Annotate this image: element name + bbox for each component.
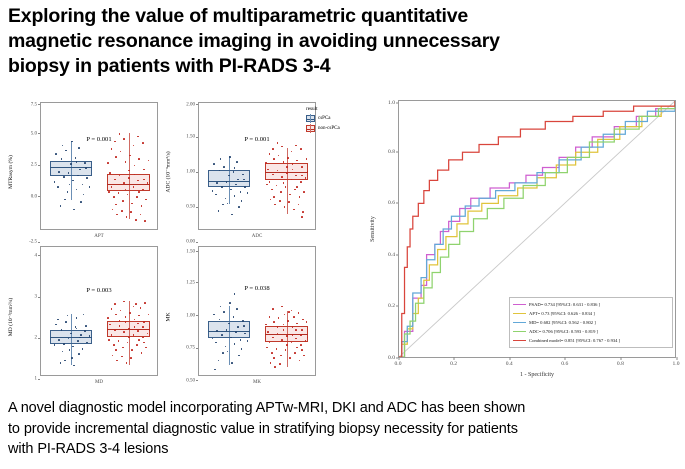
roc-legend-item-md: MD= 0.682 [95%CI: 0.562 - 0.802 ] [513,318,669,327]
roc-legend: PSAD= 0.734 [95%CI: 0.631 - 0.836 ] APT=… [509,297,673,348]
roc-legend-text-psad: PSAD= 0.734 [95%CI: 0.631 - 0.836 ] [529,300,600,309]
legend-label-noncspca: non-csPCa [318,126,340,131]
axis-label-y-mk: MK [162,246,176,388]
roc-legend-text-combined: Combined model= 0.851 [95%CI: 0.767 - 0.… [529,336,620,345]
axis-ticks-y-mk: 0.50 0.75 1.00 1.25 1.50 [176,246,198,388]
legend-key-cspca [306,115,315,122]
axis-label-x-mk: MK [198,377,316,388]
plot-area-adc: P = 0.001 [198,102,316,230]
boxplot-panel-adc: ADC (10⁻³mm²/s) 0.00 0.50 1.00 1.50 2.00… [164,102,316,242]
roc-legend-line-psad [513,304,526,306]
roc-legend-text-md: MD= 0.682 [95%CI: 0.562 - 0.802 ] [529,318,596,327]
pvalue-aptw: P = 0.001 [41,136,157,143]
title-line-1: Exploring the value of multiparametric q… [8,4,676,29]
axis-ticks-x-roc: 0.0 0.2 0.4 0.6 0.8 1.0 [398,358,676,372]
boxplot-panel-aptw: MTRasym (%) -2.5 0.0 2.5 5.0 7.5 P = 0.0… [6,102,158,242]
median-cspca [50,337,92,338]
legend-key-noncspca [306,125,315,132]
title-line-3: biopsy in patients with PI-RADS 3-4 [8,54,676,79]
axis-ticks-y-roc: 0.0 0.2 0.4 0.6 0.8 1.0 [378,100,398,358]
roc-legend-line-adc [513,331,526,333]
boxplot-panel-mk: MK 0.50 0.75 1.00 1.25 1.50 P = 0.038 [164,246,316,388]
roc-legend-text-apt: APT= 0.73 [95%CI: 0.626 - 0.834 ] [529,309,595,318]
roc-legend-item-adc: ADC= 0.706 [95%CI: 0.593 - 0.819 ] [513,327,669,336]
boxplot-legend: result csPCa non-csPCa [306,106,366,135]
caption-line-3: with PI-RADS 3-4 lesions [8,439,676,460]
boxplot-panel-md: MD (10⁻³mm²/s) 1 2 3 4 P = 0.003 [6,246,158,388]
axis-ticks-y-adc: 0.00 0.50 1.00 1.50 2.00 [176,102,198,242]
roc-legend-item-apt: APT= 0.73 [95%CI: 0.626 - 0.834 ] [513,309,669,318]
axis-label-y-mtrasym: MTRasym (%) [4,102,18,242]
axis-ticks-y-md: 1 2 3 4 [18,246,40,388]
caption-line-1: A novel diagnostic model incorporating A… [8,398,676,419]
legend-item-cspca: csPCa [306,115,366,122]
plot-area-mk: P = 0.038 [198,246,316,376]
axis-label-y-adc: ADC (10⁻³mm²/s) [162,102,176,242]
legend-title: result [306,106,366,112]
figure-panel-group: MTRasym (%) -2.5 0.0 2.5 5.0 7.5 P = 0.0… [0,96,685,396]
pvalue-adc: P = 0.001 [199,136,315,143]
legend-label-cspca: csPCa [318,116,331,121]
box-noncspca [107,174,150,192]
figure-page: Exploring the value of multiparametric q… [0,0,685,469]
caption-line-2: to provide incremental diagnostic value … [8,419,676,440]
roc-legend-line-md [513,322,526,324]
axis-label-x-specificity: 1 - Specificity [398,372,676,378]
roc-legend-line-combined [513,340,526,342]
roc-chart: Sensitivity 0.0 0.2 0.4 0.6 0.8 1.0 PSAD… [368,100,680,392]
axis-label-x-apt: APT [40,231,158,242]
roc-plot-area: PSAD= 0.734 [95%CI: 0.631 - 0.836 ] APT=… [398,100,676,358]
pvalue-md: P = 0.003 [41,287,157,294]
axis-label-y-md: MD (10⁻³mm²/s) [4,246,18,388]
page-title: Exploring the value of multiparametric q… [8,4,676,79]
axis-ticks-y-mtrasym: -2.5 0.0 2.5 5.0 7.5 [18,102,40,242]
axis-label-x-md: MD [40,377,158,388]
figure-caption: A novel diagnostic model incorporating A… [8,398,676,460]
roc-legend-item-combined: Combined model= 0.851 [95%CI: 0.767 - 0.… [513,336,669,345]
legend-item-noncspca: non-csPCa [306,125,366,132]
median-noncspca [107,184,150,185]
plot-area-aptw: P = 0.001 [40,102,158,230]
pvalue-mk: P = 0.038 [199,285,315,292]
roc-legend-line-apt [513,313,526,315]
roc-legend-item-psad: PSAD= 0.734 [95%CI: 0.631 - 0.836 ] [513,300,669,309]
title-line-2: magnetic resonance imaging in avoiding u… [8,29,676,54]
roc-legend-text-adc: ADC= 0.706 [95%CI: 0.593 - 0.819 ] [529,327,598,336]
median-cspca [208,181,250,182]
plot-area-md: P = 0.003 [40,246,158,376]
axis-label-x-adc: ADC [198,231,316,242]
